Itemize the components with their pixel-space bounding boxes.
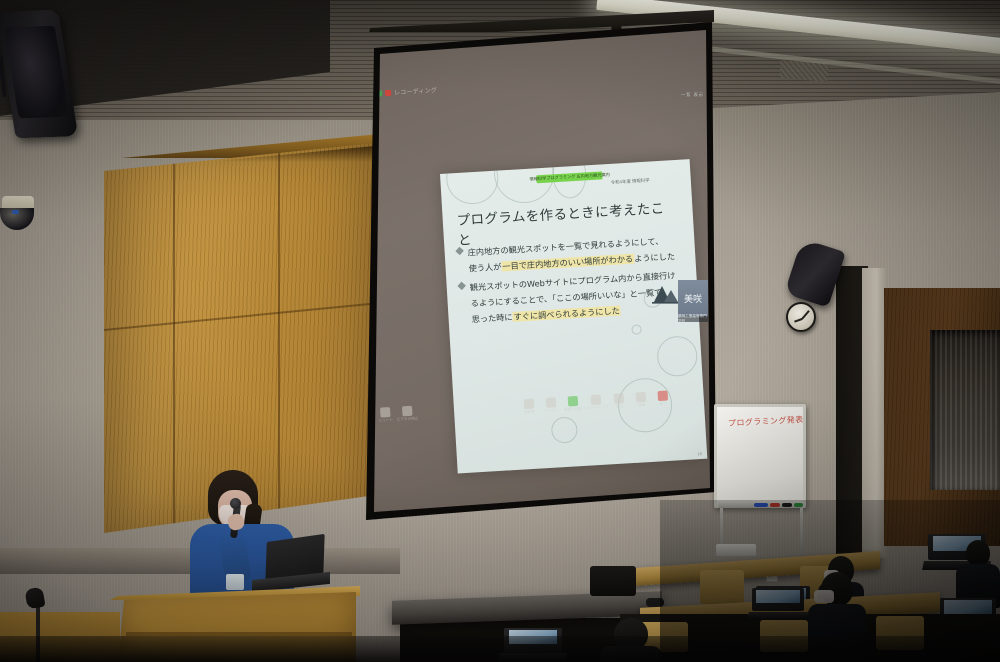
reactions-icon <box>614 393 625 404</box>
toolbar-more-button[interactable]: 詳細 <box>630 392 653 409</box>
share-screen-icon <box>567 396 578 407</box>
toolbar-chat-button[interactable]: チャット <box>539 397 562 414</box>
recording-label: レコーディング <box>394 85 437 97</box>
presenter-id-badge <box>226 574 244 590</box>
record-stop-icon <box>385 89 391 95</box>
diamond-bullet-icon <box>455 247 463 255</box>
toolbar-record-label: レコーディング <box>584 405 609 411</box>
audience-head <box>966 540 990 566</box>
decor-bubble <box>631 324 642 335</box>
line-pre: 思った時に <box>471 312 512 324</box>
line-post: ようにした <box>634 251 675 263</box>
participant-initial: 美咲 <box>684 292 702 305</box>
record-icon <box>591 395 602 406</box>
seat-back <box>590 566 636 596</box>
line-pre: 使う人が <box>468 262 501 274</box>
audience-face-mask <box>814 590 834 603</box>
whiteboard-leg-right <box>800 508 803 556</box>
wood-seam <box>173 149 175 527</box>
whiteboard-marker-red <box>770 503 780 507</box>
decor-bubble <box>445 159 500 205</box>
slide-bullet-text: 観光スポットのWebサイトにプログラム内から直接行け るようにすることで、「ここ… <box>469 267 677 327</box>
slide-page-number: 10 <box>697 451 702 456</box>
whiteboard-handwriting: プログラミング発表 <box>728 414 804 429</box>
participant-name-label: 鶴岡工業高等専門学校 <box>678 316 708 322</box>
foreground-shadow <box>0 636 1000 662</box>
lecture-hall-photo: レコーディング 情報科学プログラミング 庄内地方観光案内 令和4年度 情報科学 … <box>0 0 1000 662</box>
whiteboard-marker-black <box>782 503 792 507</box>
toolbar-mute-button[interactable]: ミュート <box>374 407 397 424</box>
toolbar-leave-label: 終了 <box>652 401 674 407</box>
wood-seam <box>278 145 280 519</box>
seat-back <box>700 570 744 604</box>
microphone-head <box>230 498 241 509</box>
laptop-screen <box>756 590 800 603</box>
line-highlight: 一目で庄内地方のいい場所がわかる <box>501 254 634 272</box>
toolbar-video-label: ビデオの停止 <box>397 416 419 422</box>
toolbar-more-label: 詳細 <box>630 402 652 408</box>
camera-led <box>12 210 19 214</box>
blinds-texture <box>930 330 1000 490</box>
toolbar-participants-button[interactable]: 参加者 <box>518 398 541 415</box>
zoom-view-toggle-label[interactable]: 一覧 表示 <box>681 92 704 98</box>
projection-screen-surface: レコーディング 情報科学プログラミング 庄内地方観光案内 令和4年度 情報科学 … <box>362 28 710 512</box>
toolbar-participants-label: 参加者 <box>518 409 540 415</box>
toolbar-leave-button[interactable]: 終了 <box>652 390 675 407</box>
slide-sub-caption: 令和4年度 情報科学 <box>611 178 650 186</box>
participants-icon <box>523 399 534 410</box>
leave-icon <box>658 391 669 402</box>
microphone-icon <box>380 407 391 418</box>
desk-device <box>646 598 664 607</box>
whiteboard: プログラミング発表 <box>714 404 810 554</box>
whiteboard-surface: プログラミング発表 <box>714 404 806 508</box>
whiteboard-marker-green <box>794 503 803 507</box>
zoom-recording-indicator: レコーディング <box>376 81 467 99</box>
chat-icon <box>545 397 556 408</box>
laptop-lid <box>752 588 804 611</box>
toolbar-chat-label: チャット <box>540 408 562 414</box>
toolbar-video-button[interactable]: ビデオの停止 <box>396 405 419 422</box>
toolbar-reactions-button[interactable]: 反応 <box>608 393 631 410</box>
line-highlight: すぐに調べられるようにした <box>512 306 621 322</box>
clock-minute-hand <box>801 310 809 319</box>
laptop-screen <box>944 600 991 614</box>
diamond-bullet-icon <box>457 282 465 290</box>
wall-clock <box>786 302 816 332</box>
decor-bubble <box>656 335 698 377</box>
toolbar-mute-label: ミュート <box>375 418 397 424</box>
laptop-keyboard <box>747 612 809 620</box>
toolbar-reactions-label: 反応 <box>609 404 631 410</box>
audience-laptop <box>752 588 804 620</box>
whiteboard-marker-blue <box>754 503 768 507</box>
camera-icon <box>402 406 413 417</box>
window-alcove <box>930 330 1000 490</box>
toolbar-share-button[interactable]: 画面の共有 <box>561 396 584 413</box>
whiteboard-base <box>716 544 756 556</box>
toolbar-share-label: 画面の共有 <box>562 407 584 413</box>
participant-video-tile[interactable]: 美咲 <box>678 280 708 316</box>
toolbar-record-button[interactable]: レコーディング <box>583 394 609 411</box>
more-icon <box>636 392 647 403</box>
dome-security-camera <box>0 196 36 230</box>
